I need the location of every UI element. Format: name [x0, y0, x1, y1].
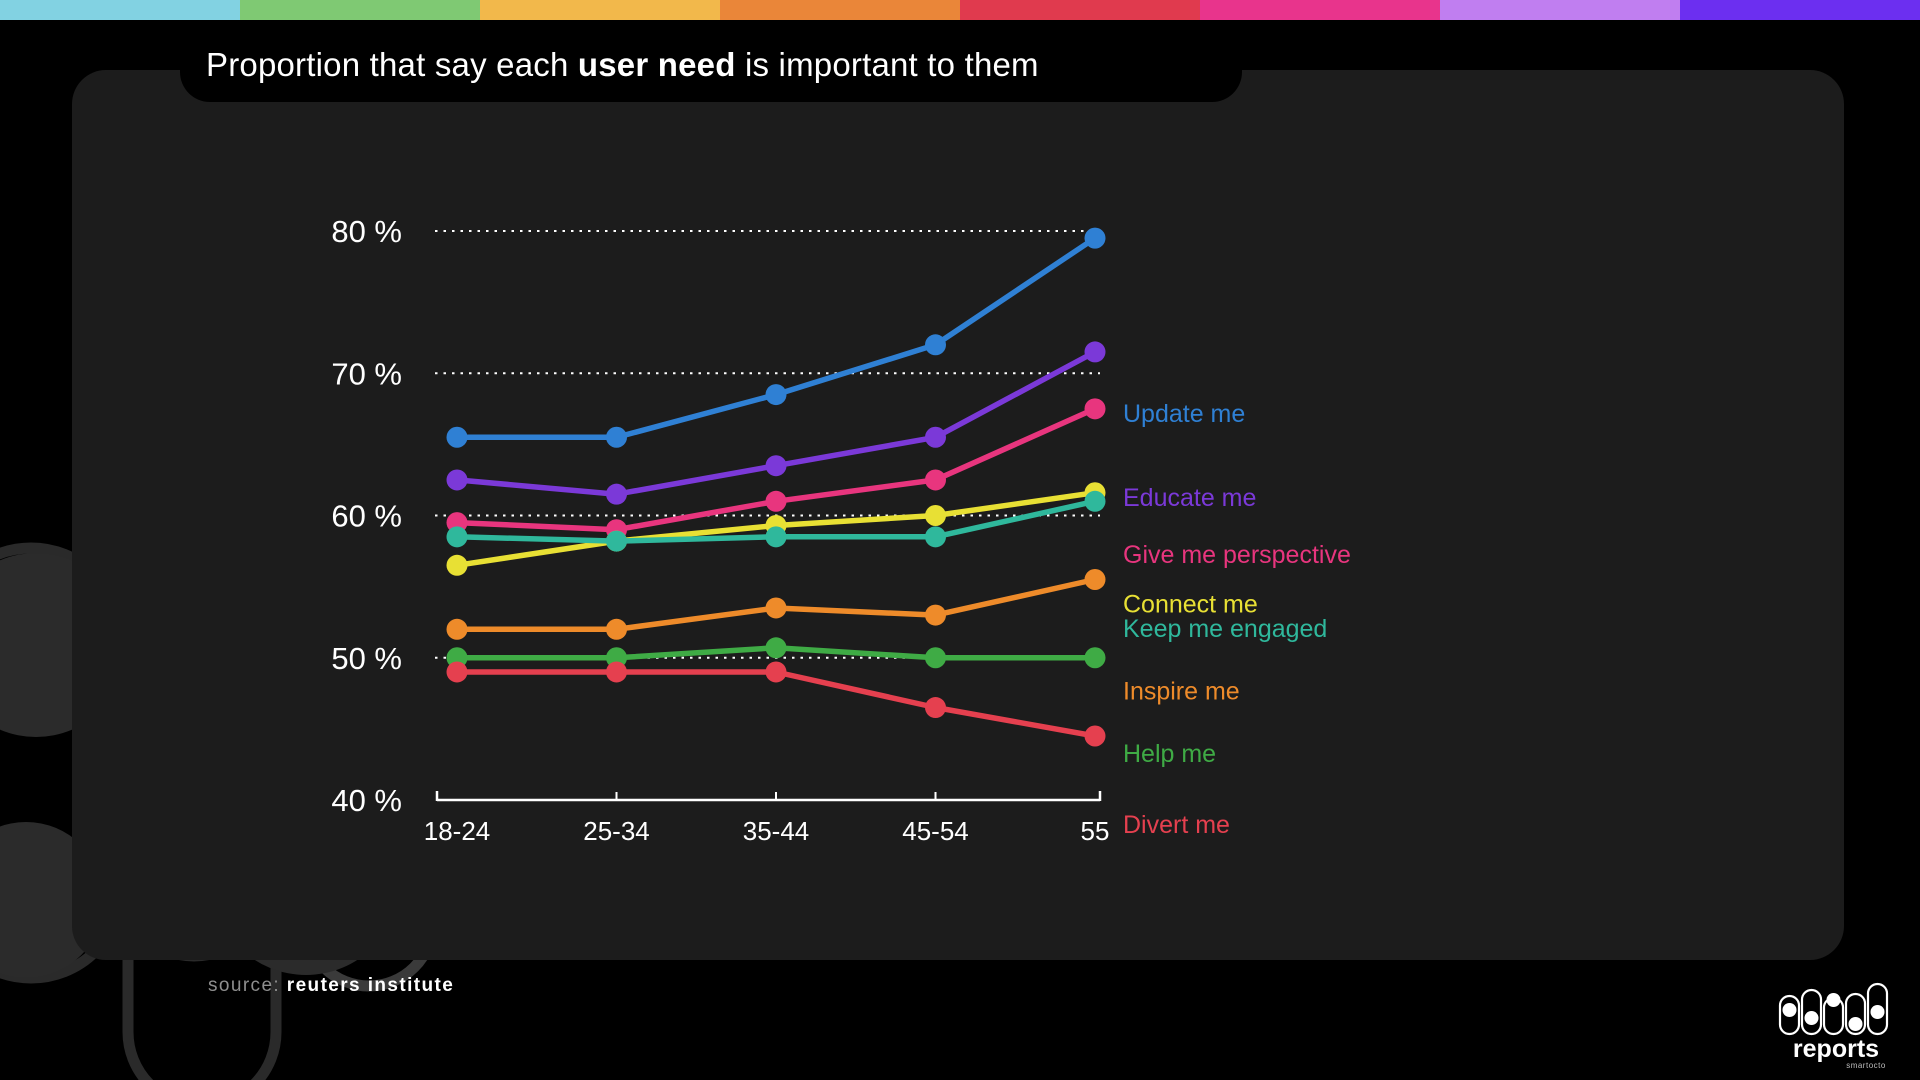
data-point-25-34[interactable] — [606, 427, 627, 448]
source-value: reuters institute — [287, 975, 454, 996]
data-point-45-54[interactable] — [925, 469, 946, 490]
y-axis-label-80: 80 % — [331, 214, 402, 249]
y-axis-label-50: 50 % — [331, 641, 402, 676]
data-point-45-54[interactable] — [925, 427, 946, 448]
logo-wordmark: reports — [1793, 1035, 1879, 1063]
rainbow-segment-2 — [240, 0, 480, 20]
data-point-45-54[interactable] — [925, 605, 946, 626]
series-legend-label[interactable]: Keep me engaged — [1123, 615, 1327, 643]
x-axis-label-35-44: 35-44 — [743, 816, 810, 846]
data-point-55[interactable] — [1085, 398, 1106, 419]
rainbow-segment-4 — [720, 0, 960, 20]
data-point-45-54[interactable] — [925, 334, 946, 355]
chart-plot-area: 40 %50 %60 %70 %80 %18-2425-3435-4445-54… — [72, 70, 1844, 960]
data-point-45-54[interactable] — [925, 647, 946, 668]
data-point-18-24[interactable] — [447, 555, 468, 576]
data-point-18-24[interactable] — [447, 619, 468, 640]
data-point-18-24[interactable] — [447, 661, 468, 682]
series-legend-label[interactable]: Give me perspective — [1123, 541, 1351, 569]
data-point-35-44[interactable] — [766, 491, 787, 512]
series-legend-label[interactable]: Divert me — [1123, 811, 1230, 839]
data-point-35-44[interactable] — [766, 455, 787, 476]
data-point-18-24[interactable] — [447, 469, 468, 490]
series-legend-label[interactable]: Educate me — [1123, 484, 1256, 512]
data-point-25-34[interactable] — [606, 619, 627, 640]
x-axis-label-25-34: 25-34 — [583, 816, 650, 846]
data-point-55[interactable] — [1085, 647, 1106, 668]
series-update-me: Update me — [447, 228, 1246, 448]
rainbow-segment-5 — [960, 0, 1200, 20]
x-axis-label-18-24: 18-24 — [424, 816, 491, 846]
chart-title-banner: Proportion that say each user need is im… — [180, 28, 1242, 102]
title-prefix: Proportion that say each — [206, 46, 578, 83]
reports-logo: reports smartocto — [1774, 978, 1898, 1070]
data-point-25-34[interactable] — [606, 531, 627, 552]
data-point-18-24[interactable] — [447, 427, 468, 448]
data-point-55[interactable] — [1085, 228, 1106, 249]
data-point-25-34[interactable] — [606, 484, 627, 505]
rainbow-strip — [0, 0, 1920, 20]
data-point-18-24[interactable] — [447, 526, 468, 547]
series-divert-me: Divert me — [447, 661, 1230, 839]
title-suffix: is important to them — [736, 46, 1039, 83]
series-line — [457, 238, 1095, 437]
data-point-45-54[interactable] — [925, 697, 946, 718]
series-legend-label[interactable]: Inspire me — [1123, 677, 1240, 705]
y-axis-label-70: 70 % — [331, 356, 402, 391]
data-point-35-44[interactable] — [766, 384, 787, 405]
data-point-55[interactable] — [1085, 569, 1106, 590]
rainbow-segment-8 — [1680, 0, 1920, 20]
logo-sub-wordmark: smartocto — [1846, 1061, 1886, 1070]
data-point-55[interactable] — [1085, 341, 1106, 362]
series-legend-label[interactable]: Help me — [1123, 740, 1216, 768]
x-axis-label-55: 55 — [1081, 816, 1110, 846]
data-point-35-44[interactable] — [766, 526, 787, 547]
x-axis-label-45-54: 45-54 — [902, 816, 969, 846]
data-point-25-34[interactable] — [606, 661, 627, 682]
data-point-55[interactable] — [1085, 725, 1106, 746]
data-point-35-44[interactable] — [766, 661, 787, 682]
rainbow-segment-3 — [480, 0, 720, 20]
data-point-45-54[interactable] — [925, 505, 946, 526]
data-point-35-44[interactable] — [766, 597, 787, 618]
rainbow-segment-1 — [0, 0, 240, 20]
line-chart-svg: 40 %50 %60 %70 %80 %18-2425-3435-4445-54… — [72, 70, 1844, 960]
source-credit: source: reuters institute — [208, 975, 454, 997]
page-title: Proportion that say each user need is im… — [180, 46, 1039, 84]
series-legend-label[interactable]: Update me — [1123, 400, 1245, 428]
rainbow-segment-7 — [1440, 0, 1680, 20]
y-axis-label-60: 60 % — [331, 499, 402, 534]
data-point-35-44[interactable] — [766, 637, 787, 658]
rainbow-segment-6 — [1200, 0, 1440, 20]
data-point-45-54[interactable] — [925, 526, 946, 547]
series-help-me: Help me — [447, 637, 1217, 768]
data-point-55[interactable] — [1085, 491, 1106, 512]
title-emphasis: user need — [578, 46, 736, 83]
y-axis-label-40: 40 % — [331, 783, 402, 818]
source-label: source: — [208, 975, 280, 996]
